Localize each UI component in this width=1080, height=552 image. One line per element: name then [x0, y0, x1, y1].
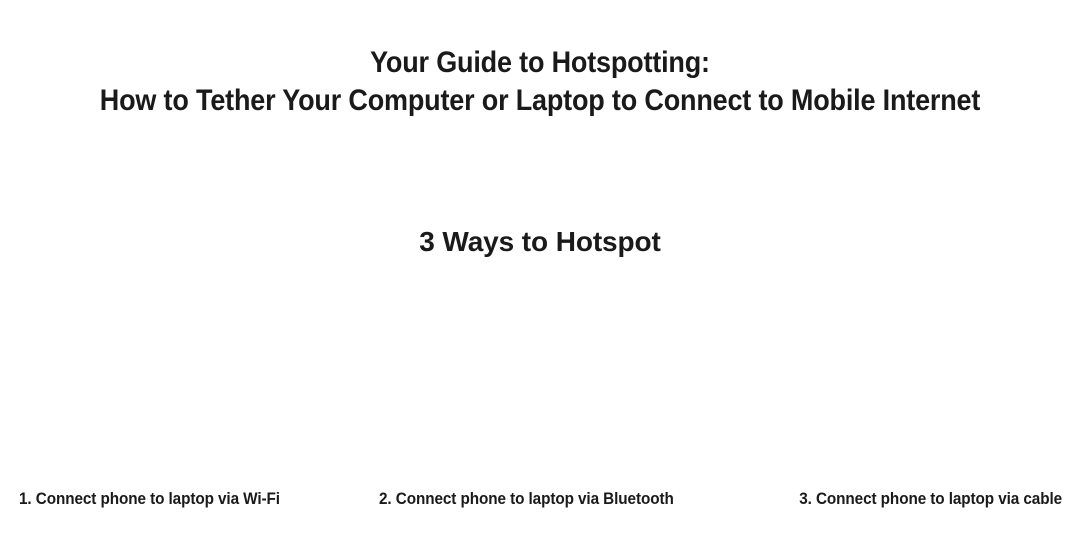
page-title-line-2: How to Tether Your Computer or Laptop to… — [54, 82, 1026, 120]
page-title-line-1: Your Guide to Hotspotting: — [54, 44, 1026, 82]
illustration-bluetooth-tether — [360, 288, 720, 472]
illustration-cable-tether — [720, 288, 1080, 472]
illustration-row — [0, 288, 1080, 472]
infographic-page: Your Guide to Hotspotting: How to Tether… — [0, 0, 1080, 552]
method-caption-2: 2. Connect phone to laptop via Bluetooth — [379, 488, 674, 510]
caption-row: 1. Connect phone to laptop via Wi-Fi 2. … — [0, 488, 1080, 512]
method-item-2: 2. Connect phone to laptop via Bluetooth — [360, 488, 720, 510]
section-heading: 3 Ways to Hotspot — [0, 224, 1080, 260]
page-title: Your Guide to Hotspotting: How to Tether… — [0, 44, 1080, 120]
method-caption-3: 3. Connect phone to laptop via cable — [799, 488, 1062, 510]
illustration-wifi-tether — [0, 288, 360, 472]
method-item-3: 3. Connect phone to laptop via cable — [721, 488, 1080, 510]
method-caption-1: 1. Connect phone to laptop via Wi-Fi — [19, 488, 280, 510]
method-item-1: 1. Connect phone to laptop via Wi-Fi — [0, 488, 360, 510]
